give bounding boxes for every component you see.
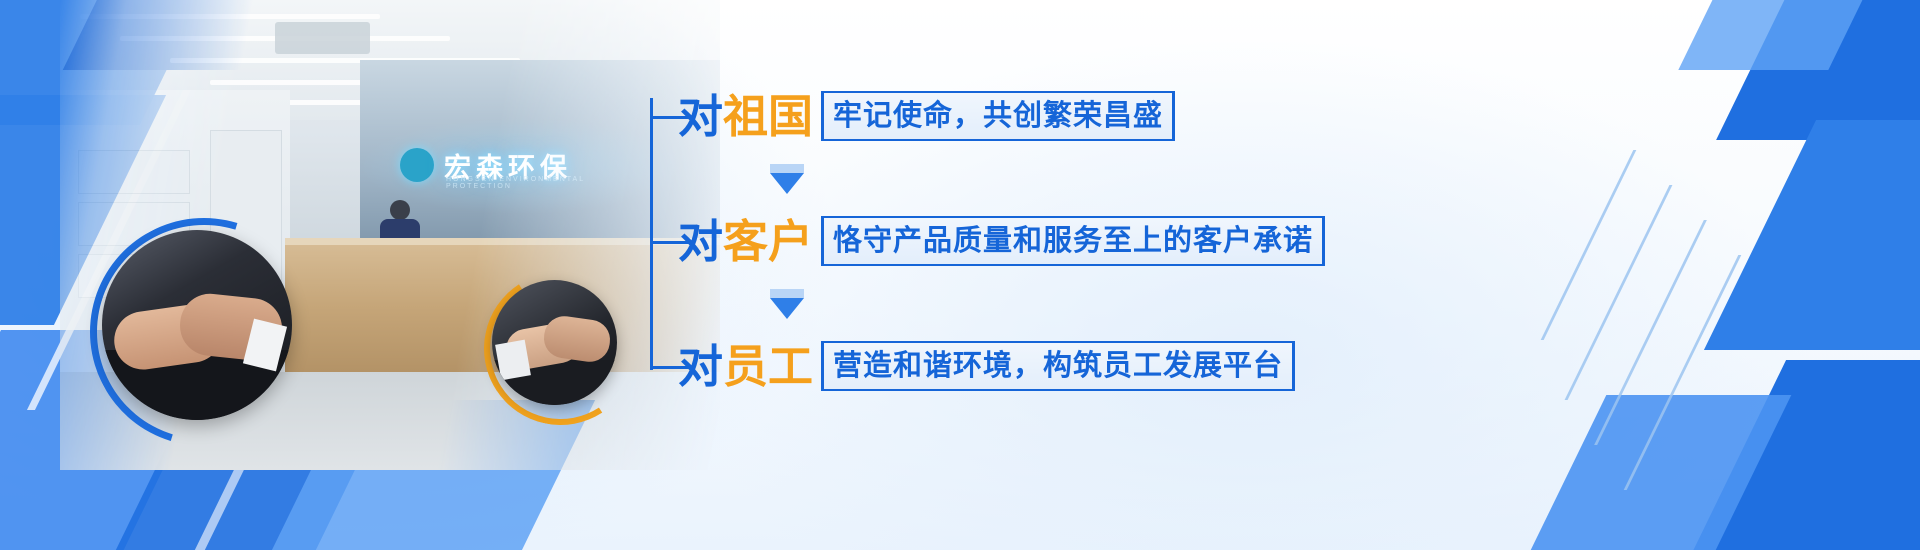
- value-row-country: 对祖国 牢记使命，共创繁荣昌盛: [678, 88, 1175, 144]
- value-callout-employee: 营造和谐环境，构筑员工发展平台: [821, 341, 1295, 390]
- company-values-banner: 宏森环保 HONGSEN ENVIRONMENTAL PROTECTION: [0, 0, 1920, 550]
- chevron-down-arrow-icon-2: [770, 289, 804, 319]
- company-sign: 宏森环保 HONGSEN ENVIRONMENTAL PROTECTION: [400, 140, 630, 190]
- globe-leaf-icon: [400, 148, 434, 182]
- photo-ceiling-vent: [275, 22, 370, 54]
- value-row-employee: 对员工 营造和谐环境，构筑员工发展平台: [678, 338, 1295, 394]
- value-lead-employee: 对员工: [678, 344, 813, 389]
- value-target-country: 祖国: [723, 90, 813, 143]
- company-sign-subtitle: HONGSEN ENVIRONMENTAL PROTECTION: [446, 176, 630, 190]
- value-prefix-employee: 对: [678, 340, 723, 393]
- value-lead-country: 对祖国: [678, 94, 813, 139]
- value-callout-customer: 恪守产品质量和服务至上的客户承诺: [821, 216, 1325, 265]
- handshake-photo-bubble: [102, 230, 292, 420]
- value-callout-country: 牢记使命，共创繁荣昌盛: [821, 91, 1175, 140]
- value-target-employee: 员工: [723, 340, 813, 393]
- values-list: 对祖国 牢记使命，共创繁荣昌盛 对客户 恪守产品质量和服务至上的客户承诺 对员工…: [650, 76, 1450, 406]
- value-lead-customer: 对客户: [678, 219, 813, 264]
- team-photo-bubble: [492, 280, 617, 405]
- chevron-down-arrow-icon-1: [770, 164, 804, 194]
- value-row-customer: 对客户 恪守产品质量和服务至上的客户承诺: [678, 213, 1325, 269]
- value-target-customer: 客户: [723, 215, 813, 268]
- value-prefix-country: 对: [678, 90, 723, 143]
- value-prefix-customer: 对: [678, 215, 723, 268]
